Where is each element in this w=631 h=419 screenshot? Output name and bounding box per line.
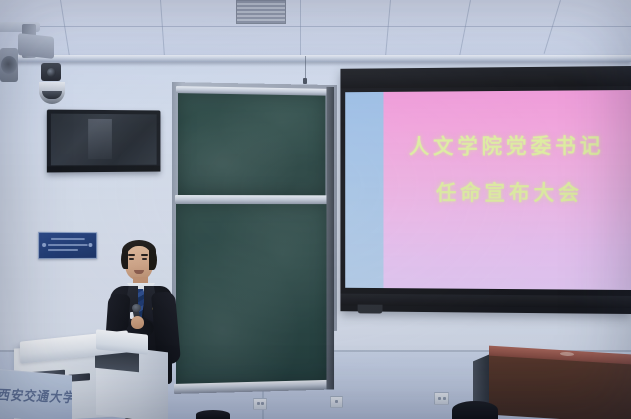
slide-title-line-1: 人文学院党委书记 <box>409 136 605 157</box>
eyebrow-left <box>128 254 135 256</box>
speaker-cone-icon <box>1 56 17 74</box>
monitor-screen <box>51 114 157 166</box>
microphone-head-icon <box>132 304 141 312</box>
wall-monitor[interactable] <box>47 110 161 173</box>
monitor-glare <box>89 119 112 159</box>
camera-lens-icon <box>47 68 56 77</box>
hand <box>131 316 144 329</box>
ceiling-tile-seam <box>60 0 70 55</box>
ceiling-tile-seam <box>300 0 301 56</box>
university-banner: 西安交通大学 <box>0 369 72 419</box>
wall-outlet[interactable] <box>434 392 449 405</box>
desk-body <box>489 356 631 419</box>
projection-screen: 人文学院党委书记 任命宣布大会 <box>333 66 631 314</box>
lecture-hall-photo: 人文学院党委书记 任命宣布大会 <box>0 0 631 419</box>
screen-bottom-bar <box>340 294 631 308</box>
chalkboard-frame <box>172 82 337 334</box>
screen-top-roller <box>340 66 631 88</box>
ceiling-rail <box>0 55 631 62</box>
ceiling-tile-seam <box>385 0 391 56</box>
chalkboard-panel-lower <box>176 204 327 386</box>
slide-left-band <box>345 92 383 288</box>
mount-bracket <box>18 33 54 59</box>
ceiling-tile-seam <box>0 26 631 27</box>
plaque-dot <box>88 243 92 247</box>
chalkboard-rail-middle <box>175 195 328 204</box>
screen-surface: 人文学院党委书记 任命宣布大会 <box>345 90 631 290</box>
plaque-line <box>51 238 84 240</box>
slide-title-line-2: 任命宣布大会 <box>436 183 583 204</box>
eye-right <box>142 258 147 260</box>
audience-head <box>452 401 498 419</box>
ceiling-tile-seam <box>459 0 471 55</box>
wall-outlet[interactable] <box>330 396 343 408</box>
chalkboard <box>172 82 342 334</box>
plaque-line <box>48 244 87 246</box>
eye-left <box>129 258 134 260</box>
screen-weight-bar <box>358 305 383 314</box>
eyebrow-right <box>141 254 148 256</box>
screen-border: 人文学院党委书记 任命宣布大会 <box>340 66 631 314</box>
hair-side-right <box>149 250 157 270</box>
hair-side-left <box>121 250 128 269</box>
university-banner-text: 西安交通大学 <box>0 385 72 407</box>
plaque-line <box>48 249 78 251</box>
chalkboard-panel-upper <box>178 92 326 195</box>
plaque-dot <box>42 243 46 247</box>
wall-outlet[interactable] <box>253 398 267 410</box>
slide-title-block: 人文学院党委书记 任命宣布大会 <box>383 90 631 290</box>
monitor-bezel <box>47 166 161 173</box>
audience-head <box>196 410 230 419</box>
hanging-cord <box>305 56 306 80</box>
wall-plaque <box>38 232 97 259</box>
ceiling-tile-seam <box>160 0 165 56</box>
ceiling <box>0 0 631 62</box>
ceiling-vent-icon <box>236 0 286 24</box>
